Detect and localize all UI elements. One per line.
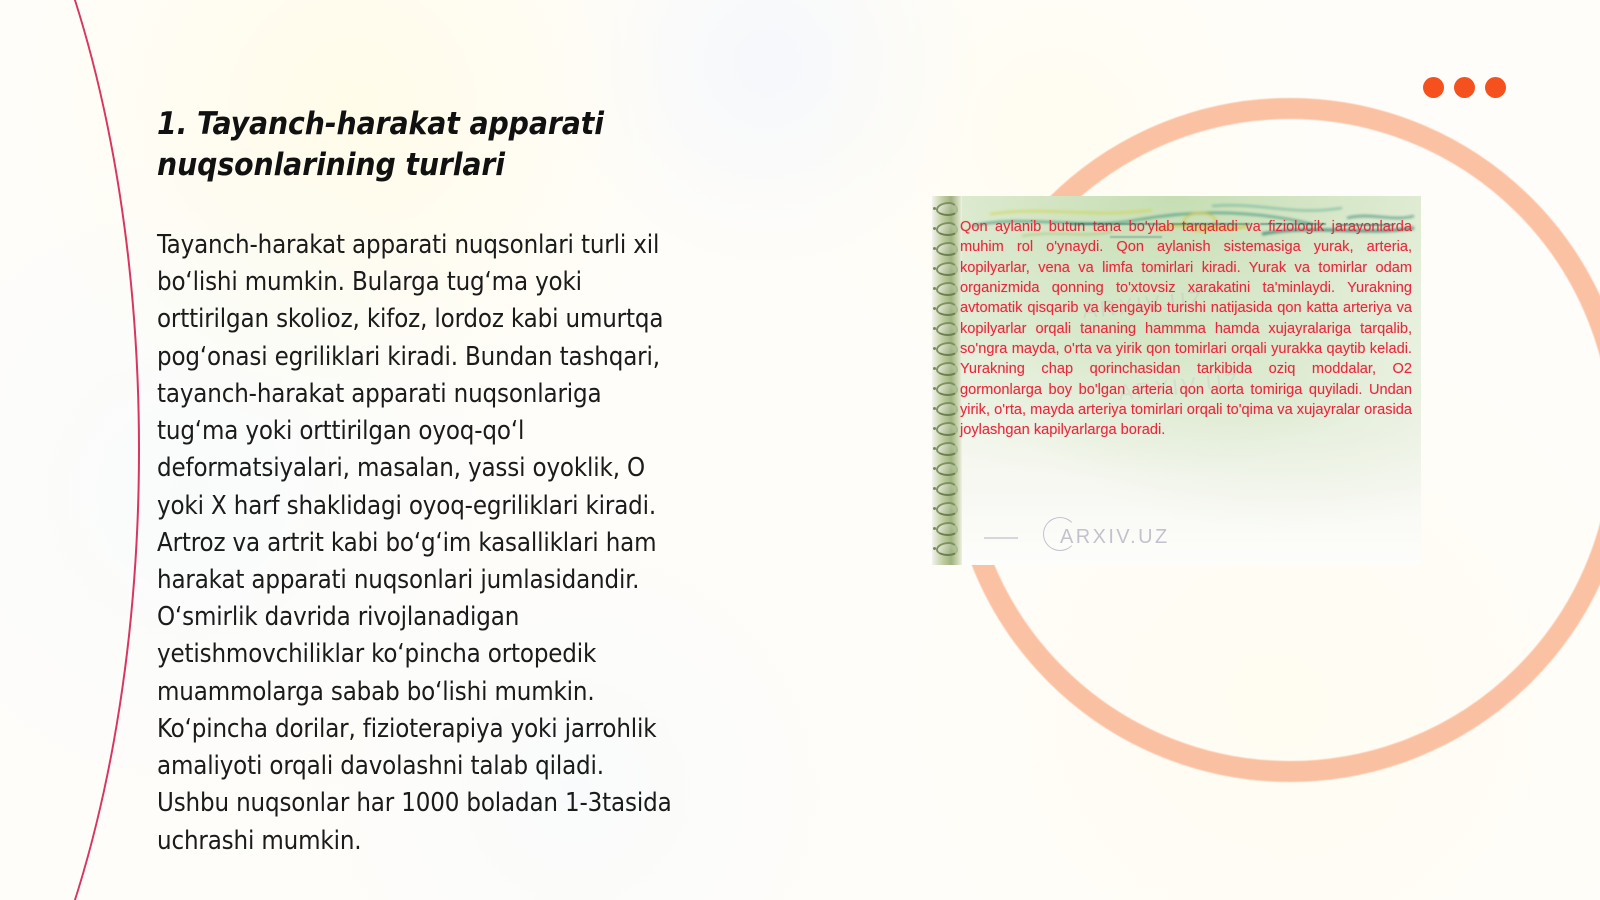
scanned-page-figure: ARXIV.UZ ARXIV.UZ Qon aylanib butun tana… — [932, 196, 1421, 565]
slide-text-column: 1. Tayanch-harakat apparati nuqsonlarini… — [157, 104, 847, 860]
spiral-binding-icon — [932, 196, 962, 565]
orange-dot-icon-2 — [1454, 77, 1475, 98]
watermark-dash-icon — [984, 537, 1018, 539]
scan-body-paragraph: Qon aylanib butun tana bo'ylab tarqaladi… — [960, 217, 1416, 441]
orange-dot-icon-3 — [1485, 77, 1506, 98]
scan-watermark: ARXIV.UZ — [1060, 526, 1170, 549]
slide-body-text: Tayanch-harakat apparati nuqsonlari turl… — [157, 227, 847, 860]
decorative-dots-group — [1423, 77, 1506, 98]
orange-dot-icon-1 — [1423, 77, 1444, 98]
slide-title: 1. Tayanch-harakat apparati nuqsonlarini… — [157, 104, 847, 186]
watermark-arc-icon — [1043, 517, 1077, 551]
